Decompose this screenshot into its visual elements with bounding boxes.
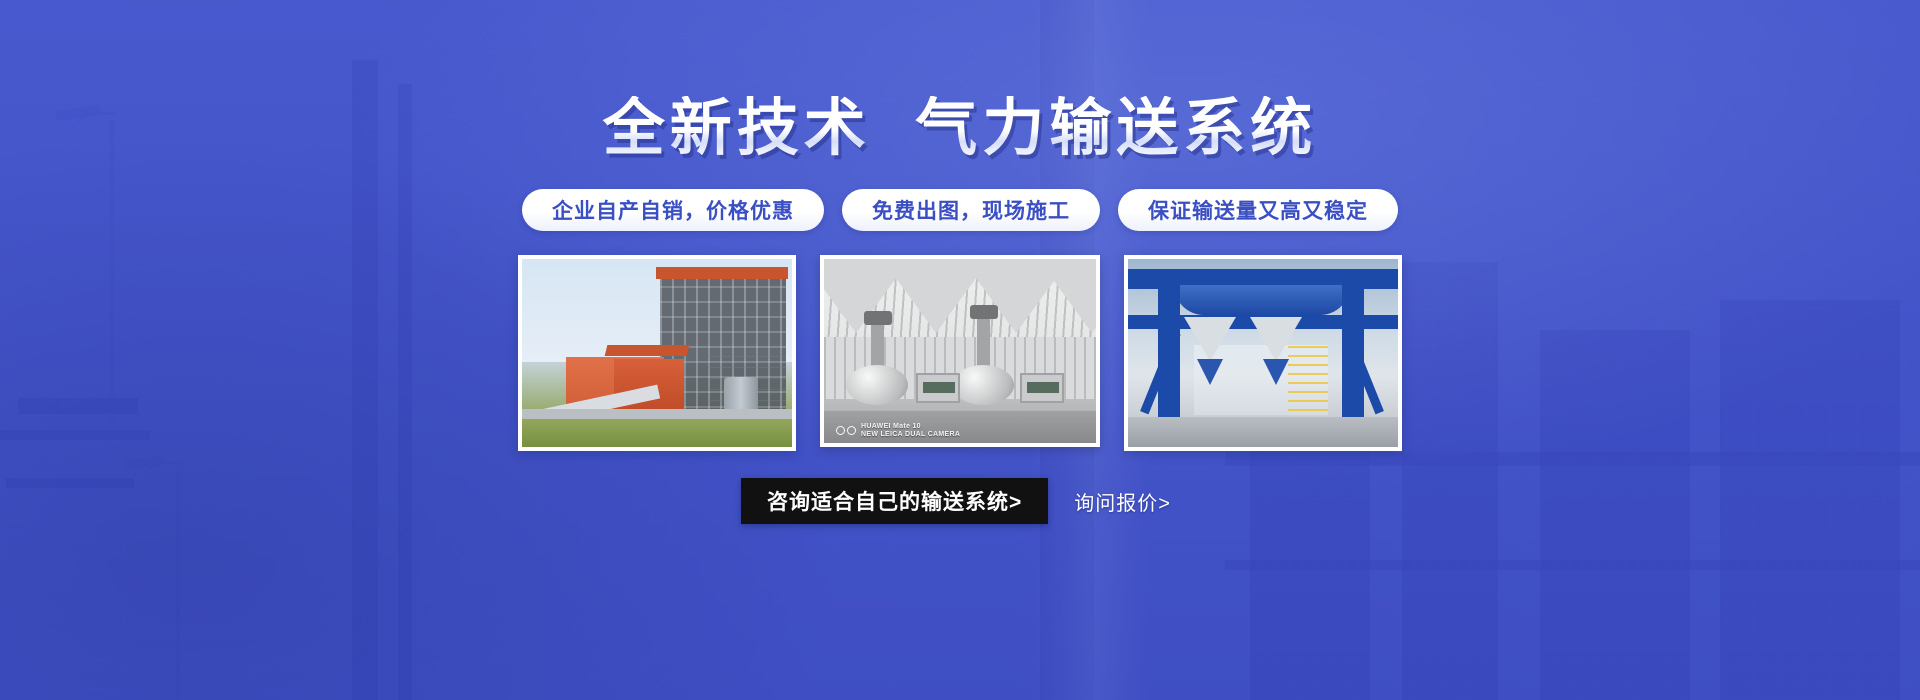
photo2-control-panel	[916, 373, 960, 403]
photo2-watermark-text: HUAWEI Mate 10 NEW LEICA DUAL CAMERA	[861, 423, 960, 440]
photo1-roof	[605, 345, 690, 356]
photo2-valve	[970, 305, 998, 319]
photo2-hopper	[1038, 259, 1100, 333]
feature-pill-row: 企业自产自销，价格优惠 免费出图，现场施工 保证输送量又高又稳定	[0, 189, 1920, 231]
cta-row: 咨询适合自己的输送系统> 询问报价>	[0, 478, 1920, 524]
feature-pill-3[interactable]: 保证输送量又高又稳定	[1118, 189, 1398, 231]
feature-pill-1[interactable]: 企业自产自销，价格优惠	[522, 189, 824, 231]
banner-headline: 全新技术 气力输送系统	[0, 96, 1920, 161]
photo2-watermark-line1: HUAWEI Mate 10	[861, 423, 960, 431]
photo2-pump-vessel	[952, 365, 1014, 405]
gallery-photo-3[interactable]	[1124, 255, 1402, 451]
photo2-watermark-line2: NEW LEICA DUAL CAMERA	[861, 431, 960, 439]
photo3-ladder	[1288, 339, 1328, 411]
photo2-valve	[864, 311, 892, 325]
banner-content: 全新技术 气力输送系统 企业自产自销，价格优惠 免费出图，现场施工 保证输送量又…	[0, 0, 1920, 700]
request-quote-link[interactable]: 询问报价>	[1066, 478, 1179, 524]
photo2-camera-watermark: HUAWEI Mate 10 NEW LEICA DUAL CAMERA	[836, 423, 960, 440]
gallery-photo-2[interactable]: HUAWEI Mate 10 NEW LEICA DUAL CAMERA	[820, 255, 1100, 447]
photo1-grass	[522, 417, 792, 447]
feature-pill-3-label: 保证输送量又高又稳定	[1148, 195, 1368, 225]
gallery-photo-1[interactable]	[518, 255, 796, 451]
feature-pill-2[interactable]: 免费出图，现场施工	[842, 189, 1100, 231]
photo3-duct	[1174, 285, 1350, 315]
promo-banner: 全新技术 气力输送系统 企业自产自销，价格优惠 免费出图，现场施工 保证输送量又…	[0, 0, 1920, 700]
feature-pill-2-label: 免费出图，现场施工	[872, 195, 1070, 225]
photo3-ground	[1128, 417, 1398, 447]
photo2-panel-display	[923, 382, 955, 393]
photo3-hopper	[1184, 317, 1236, 361]
consult-system-button[interactable]: 咨询适合自己的输送系统>	[741, 478, 1048, 524]
photo3-discharge-cone	[1197, 359, 1223, 385]
photo1-road	[522, 409, 792, 419]
dual-lens-icon	[836, 426, 856, 435]
feature-pill-1-label: 企业自产自销，价格优惠	[552, 195, 794, 225]
photo-gallery: HUAWEI Mate 10 NEW LEICA DUAL CAMERA	[0, 255, 1920, 451]
photo3-discharge-cone	[1263, 359, 1289, 385]
photo2-control-panel	[1020, 373, 1064, 403]
photo2-pump-vessel	[846, 365, 908, 405]
photo2-panel-display	[1027, 382, 1059, 393]
photo1-roof	[656, 267, 788, 279]
